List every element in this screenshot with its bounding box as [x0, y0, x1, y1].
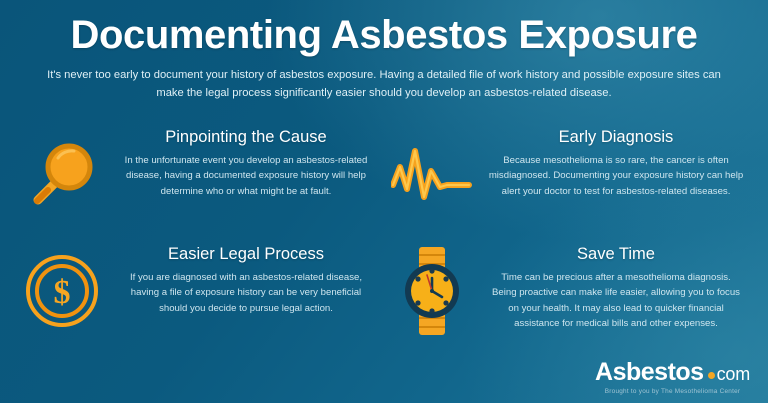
svg-text:$: $ [54, 274, 71, 311]
magnifying-glass-icon [18, 126, 106, 218]
feature-title: Early Diagnosis [482, 128, 750, 148]
feature-text: Time can be precious after a mesotheliom… [482, 270, 750, 332]
logo-tld-text: com [717, 365, 750, 383]
feature-text: If you are diagnosed with an asbestos-re… [112, 270, 380, 317]
logo-dot-icon [708, 372, 715, 379]
infographic-canvas: Documenting Asbestos Exposure It's never… [0, 0, 768, 403]
footer-logo[interactable]: Asbestos com Brought to you by The Mesot… [595, 360, 750, 395]
feature-title: Pinpointing the Cause [112, 128, 380, 148]
dollar-coin-icon: $ [18, 243, 106, 335]
feature-block-pinpointing-the-cause: Pinpointing the Cause In the unfortunate… [18, 126, 380, 241]
feature-title: Save Time [482, 245, 750, 265]
logo-wordmark: Asbestos com [595, 360, 750, 385]
page-title: Documenting Asbestos Exposure [18, 14, 750, 57]
feature-block-easier-legal-process: $ Easier Legal Process If you are diagno… [18, 243, 380, 358]
feature-body: Pinpointing the Cause In the unfortunate… [112, 126, 380, 199]
heartbeat-ekg-icon [388, 126, 476, 218]
logo-brand-text: Asbestos [595, 360, 704, 385]
feature-body: Early Diagnosis Because mesothelioma is … [482, 126, 750, 199]
feature-body: Easier Legal Process If you are diagnose… [112, 243, 380, 316]
feature-grid: Pinpointing the Cause In the unfortunate… [0, 126, 768, 358]
feature-title: Easier Legal Process [112, 245, 380, 265]
feature-block-save-time: Save Time Time can be precious after a m… [388, 243, 750, 358]
page-subtitle: It's never too early to document your hi… [46, 67, 722, 102]
feature-block-early-diagnosis: Early Diagnosis Because mesothelioma is … [388, 126, 750, 241]
feature-text: Because mesothelioma is so rare, the can… [482, 153, 750, 200]
header: Documenting Asbestos Exposure It's never… [0, 0, 768, 102]
logo-tagline: Brought to you by The Mesothelioma Cente… [595, 388, 750, 395]
feature-body: Save Time Time can be precious after a m… [482, 243, 750, 332]
wristwatch-icon [388, 243, 476, 335]
feature-text: In the unfortunate event you develop an … [112, 153, 380, 200]
